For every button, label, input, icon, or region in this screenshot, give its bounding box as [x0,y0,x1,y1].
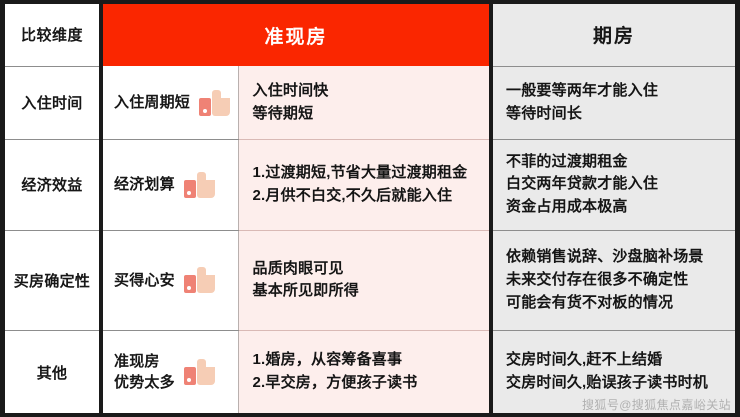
header-left-title-cell: 准现房 [101,4,491,66]
row-tag-label-0: 入住周期短 [114,92,190,113]
table-row: 买房确定性 买得心安 品质肉眼可见 基本所见即所得 依赖销售说辞、沙盘脑补场景 … [5,230,735,330]
tag-inner-2: 买得心安 [103,267,238,293]
row-cons-2: 依赖销售说辞、沙盘脑补场景 未来交付存在很多不确定性 可能会有货不对板的情况 [491,230,735,330]
table-row: 其他 准现房 优势太多 1.婚房，从容筹备喜事 2.早交房，方便孩子读书 交房时… [5,331,735,413]
thumbs-up-cuff [184,180,196,198]
row-dimension-0: 入住时间 [5,66,101,139]
tag-inner-1: 经济划算 [103,172,238,198]
thumbs-up-cuff-dot [187,286,191,290]
thumbs-up-cuff [184,275,196,293]
thumbs-up-cuff-dot [187,378,191,382]
row-tag-cell-2: 买得心安 [101,230,238,330]
header-right-title-cell: 期房 [491,4,735,66]
row-pros-2: 品质肉眼可见 基本所见即所得 [238,230,491,330]
comparison-table: 比较维度 准现房 期房 入住时间 入住周期短 入住时间快 [5,4,735,413]
header-dimension-cell: 比较维度 [5,4,101,66]
row-cons-0: 一般要等两年才能入住 等待时间长 [491,66,735,139]
thumbs-up-cuff-dot [187,191,191,195]
row-tag-cell-0: 入住周期短 [101,66,238,139]
row-pros-0: 入住时间快 等待期短 [238,66,491,139]
table-row: 入住时间 入住周期短 入住时间快 等待期短 一般要等两年才能入住 等待时间长 [5,66,735,139]
thumbs-up-cuff-dot [203,109,207,113]
thumbs-up-cuff [199,98,211,116]
thumbs-up-palm [197,180,215,198]
thumbs-up-icon [184,359,215,385]
thumbs-up-palm [197,367,215,385]
row-cons-1: 不菲的过渡期租金 白交两年贷款才能入住 资金占用成本极高 [491,140,735,230]
row-tag-cell-1: 经济划算 [101,140,238,230]
table-header-row: 比较维度 准现房 期房 [5,4,735,66]
thumbs-up-icon [199,90,230,116]
thumbs-up-cuff [184,367,196,385]
row-pros-1: 1.过渡期短,节省大量过渡期租金 2.月供不白交,不久后就能入住 [238,140,491,230]
row-dimension-3: 其他 [5,331,101,413]
row-cons-3: 交房时间久,赶不上结婚 交房时间久,贻误孩子读书时机 [491,331,735,413]
row-pros-3: 1.婚房，从容筹备喜事 2.早交房，方便孩子读书 [238,331,491,413]
thumbs-up-icon [184,172,215,198]
thumbs-up-palm [197,275,215,293]
tag-inner-0: 入住周期短 [103,90,238,116]
row-tag-label-3: 准现房 优势太多 [114,351,175,394]
tag-inner-3: 准现房 优势太多 [103,351,238,394]
row-tag-cell-3: 准现房 优势太多 [101,331,238,413]
row-dimension-1: 经济效益 [5,140,101,230]
thumbs-up-icon [184,267,215,293]
table-row: 经济效益 经济划算 1.过渡期短,节省大量过渡期租金 2.月供不白交,不久后就能… [5,140,735,230]
row-tag-label-1: 经济划算 [114,174,175,195]
thumbs-up-palm [212,98,230,116]
comparison-table-container: 比较维度 准现房 期房 入住时间 入住周期短 入住时间快 [0,0,740,417]
row-tag-label-2: 买得心安 [114,270,175,291]
row-dimension-2: 买房确定性 [5,230,101,330]
